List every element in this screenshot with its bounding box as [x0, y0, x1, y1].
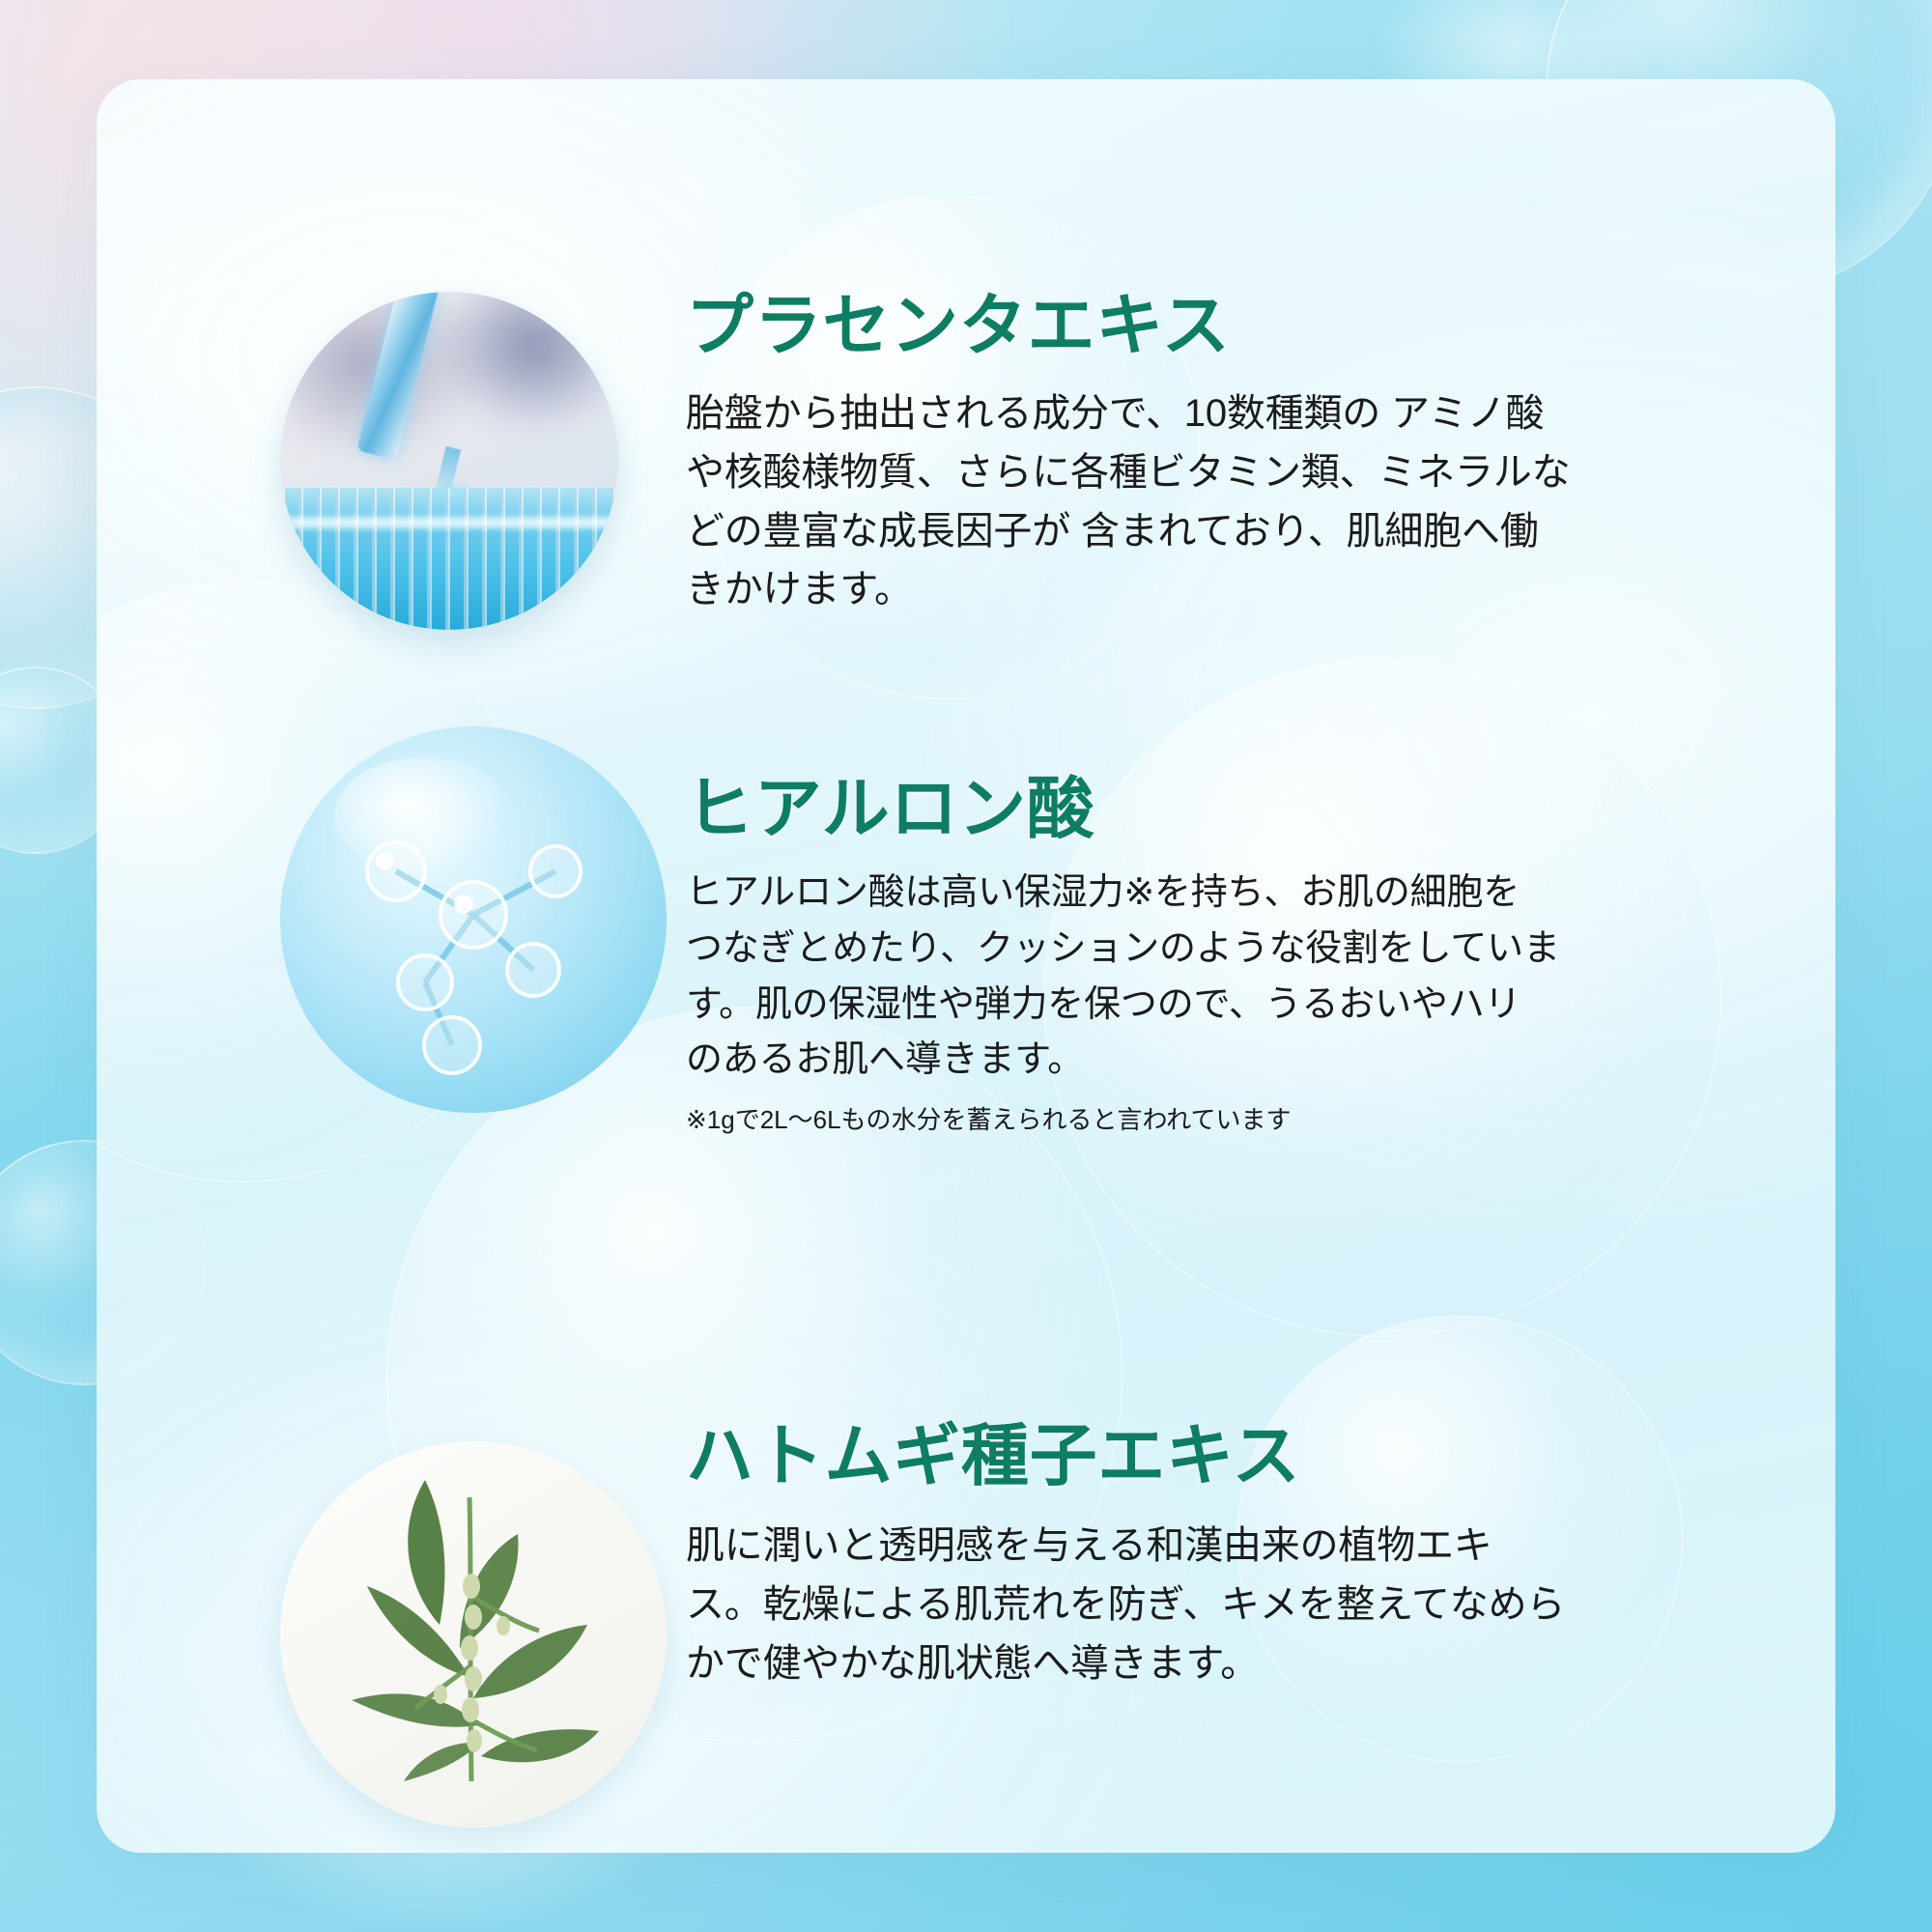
- ingredients-card: プラセンタエキス 胎盤から抽出される成分で、10数種類の アミノ酸 や核酸様物質…: [97, 79, 1835, 1853]
- section-body: 肌に潤いと透明感を与える和漢由来の植物エキ ス。乾燥による肌荒れを防ぎ、キメを整…: [686, 1517, 1758, 1692]
- pipette-dropper-photo: [280, 292, 618, 630]
- section-title: ハトムギ種子エキス: [686, 1422, 1758, 1490]
- ingredient-section-hyaluronic-acid: ヒアルロン酸 ヒアルロン酸は高い保湿力※を持ち、お肌の細胞を つなぎとめたり、ク…: [280, 746, 1758, 1137]
- ingredient-section-coix-seed: ハトムギ種子エキス 肌に潤いと透明感を与える和漢由来の植物エキ ス。乾燥による肌…: [280, 1422, 1758, 1828]
- plant-illustration: [280, 1441, 667, 1828]
- section-text: プラセンタエキス 胎盤から抽出される成分で、10数種類の アミノ酸 や核酸様物質…: [686, 292, 1758, 619]
- page-background: プラセンタエキス 胎盤から抽出される成分で、10数種類の アミノ酸 や核酸様物質…: [0, 0, 1932, 1932]
- section-body: ヒアルロン酸は高い保湿力※を持ち、お肌の細胞を つなぎとめたり、クッションのよう…: [686, 866, 1758, 1089]
- section-text: ハトムギ種子エキス 肌に潤いと透明感を与える和漢由来の植物エキ ス。乾燥による肌…: [686, 1422, 1758, 1692]
- job-tears-plant-photo: [280, 1441, 667, 1828]
- section-title: プラセンタエキス: [686, 292, 1758, 359]
- section-title: ヒアルロン酸: [686, 775, 1758, 842]
- molecule-sphere-photo: [280, 726, 667, 1113]
- section-text: ヒアルロン酸 ヒアルロン酸は高い保湿力※を持ち、お肌の細胞を つなぎとめたり、ク…: [686, 746, 1758, 1137]
- section-footnote: ※1gで2L〜6Lもの水分を蓄えられると言われています: [686, 1102, 1758, 1137]
- ingredient-section-placenta: プラセンタエキス 胎盤から抽出される成分で、10数種類の アミノ酸 や核酸様物質…: [280, 292, 1758, 630]
- section-body: 胎盤から抽出される成分で、10数種類の アミノ酸 や核酸様物質、さらに各種ビタミ…: [686, 384, 1758, 619]
